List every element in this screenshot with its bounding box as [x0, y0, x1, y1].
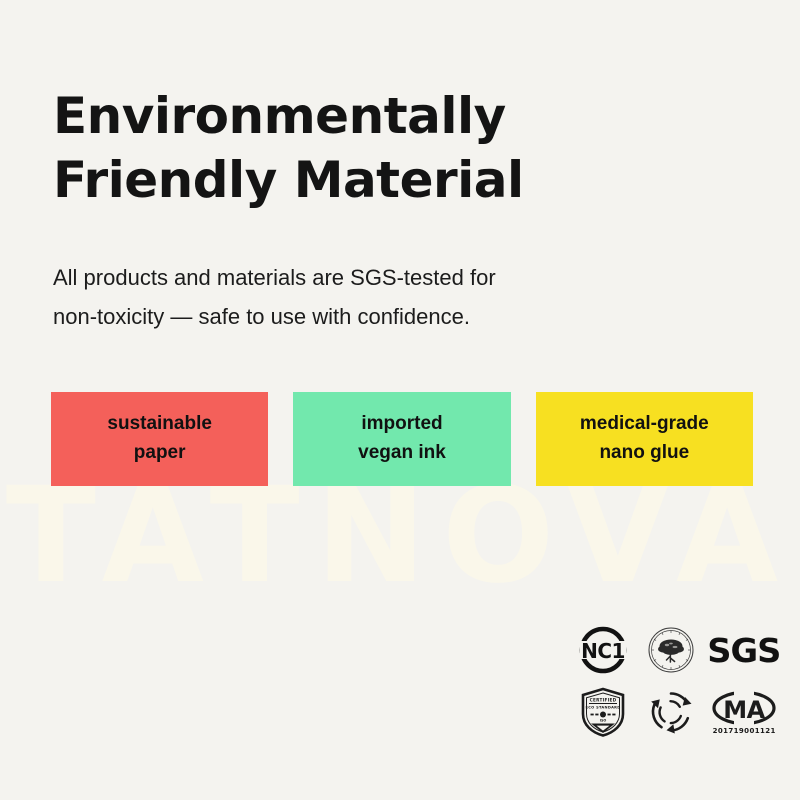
page-subtitle-line-2: non-toxicity — safe to use with confiden… [53, 297, 693, 336]
cma-certificate-number: 201719001121 [713, 728, 776, 735]
material-chip-label-line-2: paper [134, 439, 186, 468]
svg-text:NC1: NC1 [581, 639, 625, 663]
nc1-icon: NC1 [572, 620, 634, 680]
svg-text:CERTIFIED: CERTIFIED [590, 697, 617, 702]
material-chip-label-line-2: nano glue [599, 439, 689, 468]
svg-text:ECO STANDARD: ECO STANDARD [586, 706, 621, 710]
material-chip-vegan-ink: imported vegan ink [293, 392, 510, 486]
page-title-line-2: Friendly Material [53, 148, 733, 212]
page-subtitle: All products and materials are SGS-teste… [53, 258, 693, 336]
material-chip-label-line-2: vegan ink [358, 439, 446, 468]
svg-text:ISO: ISO [600, 719, 607, 723]
material-chip-label-line-1: imported [361, 410, 442, 439]
poster-canvas: TATNOVA Environmentally Friendly Materia… [0, 0, 800, 800]
shield-icon: CERTIFIED ECO STANDARD ISO [572, 682, 634, 742]
recycling-icon [640, 682, 702, 742]
material-chip-nano-glue: medical-grade nano glue [536, 392, 753, 486]
page-subtitle-line-1: All products and materials are SGS-teste… [53, 258, 693, 297]
svg-text:MA: MA [723, 696, 765, 724]
page-title-line-1: Environmentally [53, 84, 733, 148]
sgs-label: SGS [708, 634, 781, 667]
material-chip-group: sustainable paper imported vegan ink med… [51, 392, 753, 486]
forest-tree-icon [640, 620, 702, 680]
brand-watermark: TATNOVA [0, 470, 800, 602]
material-chip-sustainable-paper: sustainable paper [51, 392, 268, 486]
material-chip-label-line-1: sustainable [107, 410, 212, 439]
certification-badge-grid: NC1 [572, 620, 780, 742]
sgs-icon: SGS [708, 620, 780, 680]
page-title: Environmentally Friendly Material [53, 84, 733, 212]
material-chip-label-line-1: medical-grade [580, 410, 709, 439]
cma-icon: MA 201719001121 [708, 682, 780, 742]
